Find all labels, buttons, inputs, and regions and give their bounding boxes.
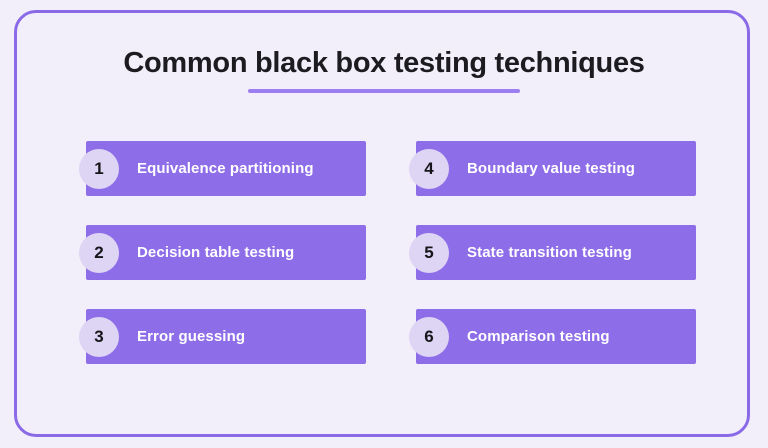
technique-card-grid: 1 Equivalence partitioning 4 Boundary va…	[79, 141, 705, 364]
card-number-badge: 3	[79, 317, 119, 357]
technique-card-6[interactable]: 6 Comparison testing	[409, 309, 696, 364]
card-label: Equivalence partitioning	[137, 160, 314, 177]
title-underline-accent	[248, 89, 520, 93]
technique-card-5[interactable]: 5 State transition testing	[409, 225, 696, 280]
card-label: State transition testing	[467, 244, 632, 261]
card-number-badge: 6	[409, 317, 449, 357]
card-number-badge: 5	[409, 233, 449, 273]
technique-card-4[interactable]: 4 Boundary value testing	[409, 141, 696, 196]
card-label: Decision table testing	[137, 244, 294, 261]
title-block: Common black box testing techniques	[0, 44, 768, 93]
card-number-badge: 4	[409, 149, 449, 189]
infographic-canvas: Common black box testing techniques 1 Eq…	[0, 0, 768, 448]
technique-card-1[interactable]: 1 Equivalence partitioning	[79, 141, 366, 196]
card-label: Comparison testing	[467, 328, 610, 345]
card-label: Boundary value testing	[467, 160, 635, 177]
card-number-badge: 2	[79, 233, 119, 273]
card-number-badge: 1	[79, 149, 119, 189]
page-title: Common black box testing techniques	[0, 44, 768, 82]
technique-card-3[interactable]: 3 Error guessing	[79, 309, 366, 364]
technique-card-2[interactable]: 2 Decision table testing	[79, 225, 366, 280]
card-label: Error guessing	[137, 328, 245, 345]
